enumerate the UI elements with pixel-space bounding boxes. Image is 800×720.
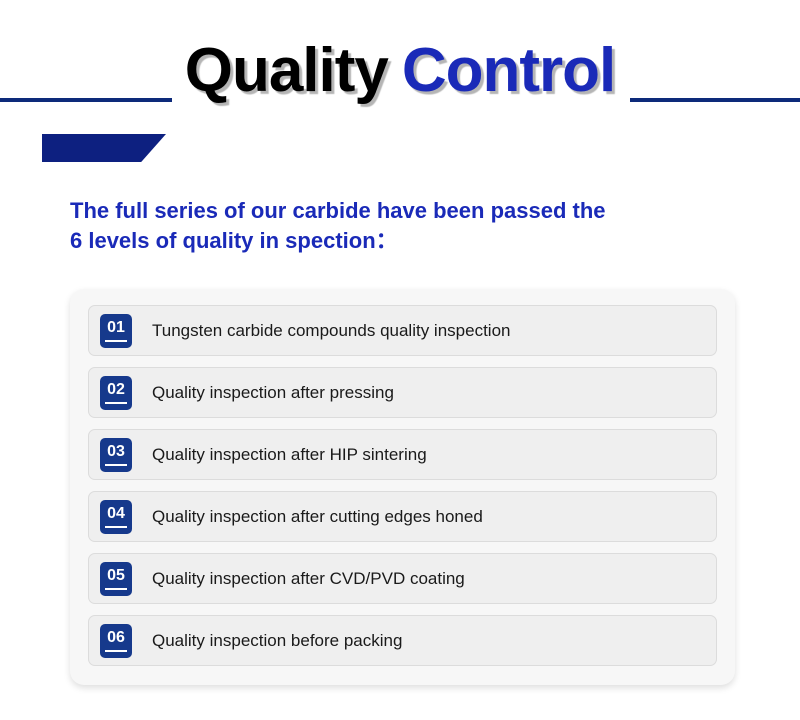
step-number-badge: 01 (100, 314, 132, 348)
list-item: 06 Quality inspection before packing (88, 615, 717, 666)
inspection-steps-card: 01 Tungsten carbide compounds quality in… (70, 289, 735, 685)
list-item-label: Quality inspection after cutting edges h… (152, 507, 483, 527)
step-number-badge: 03 (100, 438, 132, 472)
list-item-label: Quality inspection after pressing (152, 383, 394, 403)
inspection-steps-list: 01 Tungsten carbide compounds quality in… (88, 305, 717, 666)
list-item: 03 Quality inspection after HIP sinterin… (88, 429, 717, 480)
step-number-badge: 02 (100, 376, 132, 410)
title-band: QualityControl (0, 28, 800, 114)
decorative-flag-shape (42, 134, 166, 162)
list-item: 04 Quality inspection after cutting edge… (88, 491, 717, 542)
list-item-label: Quality inspection after CVD/PVD coating (152, 569, 465, 589)
list-item-label: Quality inspection after HIP sintering (152, 445, 427, 465)
page-title-word-primary: Quality (185, 36, 388, 105)
list-item: 01 Tungsten carbide compounds quality in… (88, 305, 717, 356)
section-heading-line-1: The full series of our carbide have been… (70, 196, 750, 226)
step-number-badge: 06 (100, 624, 132, 658)
page-title-word-accent: Control (402, 36, 615, 105)
section-heading-line-2: 6 levels of quality in spection： (70, 226, 750, 256)
list-item: 05 Quality inspection after CVD/PVD coat… (88, 553, 717, 604)
step-number-badge: 05 (100, 562, 132, 596)
list-item-label: Quality inspection before packing (152, 631, 402, 651)
section-heading: The full series of our carbide have been… (70, 196, 750, 256)
page-title: QualityControl (0, 28, 800, 114)
list-item: 02 Quality inspection after pressing (88, 367, 717, 418)
step-number-badge: 04 (100, 500, 132, 534)
list-item-label: Tungsten carbide compounds quality inspe… (152, 321, 510, 341)
